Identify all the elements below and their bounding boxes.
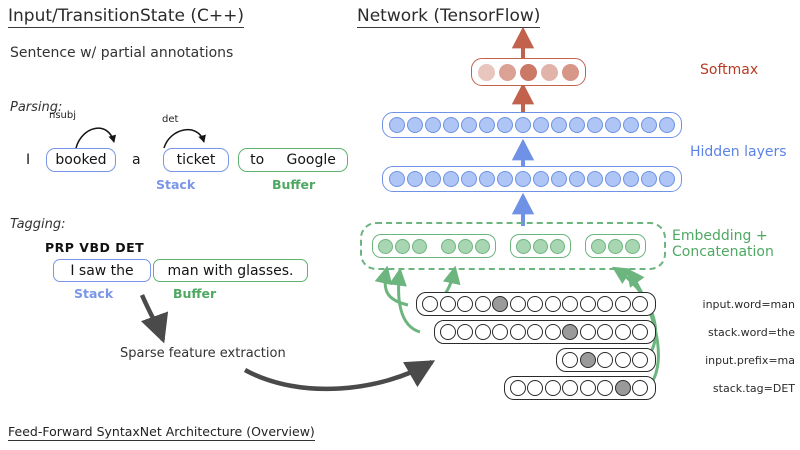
hidden-node xyxy=(515,171,531,187)
hidden-node xyxy=(605,117,621,133)
hidden-node xyxy=(443,117,459,133)
sparse-node xyxy=(562,352,578,368)
sparse-feature-row[interactable] xyxy=(504,376,657,400)
sparse-node xyxy=(510,380,526,396)
chip-buffer-to-google[interactable]: to Google xyxy=(238,148,348,172)
hidden-node xyxy=(659,171,675,187)
embedding-node xyxy=(458,239,473,254)
sparse-node xyxy=(475,324,491,340)
arrow-to-feature-vectors xyxy=(245,362,432,389)
sparse-feature-labels: input.word=manstack.word=theinput.prefix… xyxy=(655,292,795,404)
chip-tagging-buffer-label: man with glasses. xyxy=(163,263,299,279)
sparse-node xyxy=(527,380,543,396)
sparse-node xyxy=(597,380,613,396)
sparse-node xyxy=(580,296,596,312)
hidden-node xyxy=(623,171,639,187)
hidden-node xyxy=(515,117,531,133)
sparse-node xyxy=(422,296,438,312)
hidden-node xyxy=(479,171,495,187)
embedding-segment xyxy=(516,239,565,254)
embedding-group[interactable] xyxy=(510,234,571,258)
sparse-node xyxy=(615,352,631,368)
sparse-node xyxy=(492,324,508,340)
sparse-node xyxy=(510,296,526,312)
hidden-node xyxy=(533,171,549,187)
embedding-node xyxy=(625,239,640,254)
sparse-node-active xyxy=(562,324,578,340)
sparse-node xyxy=(597,324,613,340)
green-link-1 xyxy=(385,268,408,305)
arc-det xyxy=(164,130,204,148)
hidden-node xyxy=(641,117,657,133)
arc-label-nsubj: nsubj xyxy=(49,110,76,121)
softmax-node xyxy=(499,64,516,81)
right-panel-heading: Network (TensorFlow) xyxy=(357,6,540,28)
embedding-groups-row xyxy=(372,232,656,260)
hidden-node xyxy=(407,171,423,187)
hidden-node xyxy=(425,117,441,133)
sparse-node xyxy=(632,380,648,396)
sparse-node xyxy=(527,324,543,340)
hidden-node xyxy=(443,171,459,187)
chip-token-to: to xyxy=(245,152,269,168)
softmax-layer[interactable] xyxy=(471,58,586,86)
embedding-node xyxy=(412,239,427,254)
tagging-tags: PRP VBD DET xyxy=(45,240,144,255)
sparse-node-active xyxy=(492,296,508,312)
hidden-node xyxy=(389,117,405,133)
embedding-group[interactable] xyxy=(372,234,496,258)
sparse-node xyxy=(510,324,526,340)
embedding-segment xyxy=(441,239,490,254)
hidden-node xyxy=(533,117,549,133)
embedding-side-label-line1: Embedding + xyxy=(672,228,774,244)
softmax-node xyxy=(478,64,495,81)
parsing-stack-label: Stack xyxy=(156,177,195,192)
hidden-node xyxy=(587,171,603,187)
chip-booked-label: booked xyxy=(50,152,111,168)
sparse-feature-vectors xyxy=(406,292,656,404)
hidden-node xyxy=(569,117,585,133)
sparse-node xyxy=(527,296,543,312)
softmax-node xyxy=(541,64,558,81)
sparse-node xyxy=(615,324,631,340)
sparse-node xyxy=(545,324,561,340)
sparse-node xyxy=(597,352,613,368)
sparse-node xyxy=(632,352,648,368)
hidden-node xyxy=(551,171,567,187)
sparse-node xyxy=(615,296,631,312)
sparse-node xyxy=(632,296,648,312)
sparse-feature-extraction-label: Sparse feature extraction xyxy=(120,346,286,361)
sparse-node xyxy=(440,296,456,312)
sparse-node xyxy=(545,296,561,312)
chip-tagging-buffer[interactable]: man with glasses. xyxy=(153,259,308,282)
hidden-layers-side-label: Hidden layers xyxy=(690,144,787,160)
hidden-node xyxy=(479,117,495,133)
chip-ticket-label: ticket xyxy=(172,152,221,168)
sparse-feature-label: stack.word=the xyxy=(708,326,795,339)
parsing-buffer-label: Buffer xyxy=(272,177,315,192)
sparse-feature-row[interactable] xyxy=(434,320,657,344)
sparse-feature-label: stack.tag=DET xyxy=(713,382,795,395)
embedding-node xyxy=(441,239,456,254)
embedding-node xyxy=(516,239,531,254)
softmax-node xyxy=(562,64,579,81)
arrow-to-sparse-extraction xyxy=(142,295,163,340)
chip-tagging-stack[interactable]: I saw the xyxy=(53,259,151,282)
hidden-node xyxy=(623,117,639,133)
softmax-side-label: Softmax xyxy=(700,62,758,78)
sparse-feature-row[interactable] xyxy=(556,348,656,372)
hidden-node xyxy=(659,117,675,133)
sparse-feature-label: input.word=man xyxy=(703,298,795,311)
hidden-node xyxy=(425,171,441,187)
chip-ticket[interactable]: ticket xyxy=(163,148,229,172)
hidden-node xyxy=(551,117,567,133)
sparse-node xyxy=(440,324,456,340)
embedding-node xyxy=(378,239,393,254)
sparse-node xyxy=(562,296,578,312)
sparse-feature-row[interactable] xyxy=(416,292,656,316)
embedding-node xyxy=(475,239,490,254)
embedding-node xyxy=(533,239,548,254)
hidden-node xyxy=(497,171,513,187)
hidden-node xyxy=(569,171,585,187)
sparse-node xyxy=(597,296,613,312)
chip-token-google: Google xyxy=(281,152,340,168)
sparse-node xyxy=(475,296,491,312)
figure-caption: Feed-Forward SyntaxNet Architecture (Ove… xyxy=(8,424,315,441)
sparse-node xyxy=(457,324,473,340)
embedding-side-label: Embedding + Concatenation xyxy=(672,228,774,260)
chip-tagging-stack-label: I saw the xyxy=(65,263,138,279)
sparse-node xyxy=(545,380,561,396)
sparse-node xyxy=(632,324,648,340)
hidden-node xyxy=(461,117,477,133)
embedding-node xyxy=(591,239,606,254)
sparse-feature-label: input.prefix=ma xyxy=(705,354,795,367)
tagging-buffer-label: Buffer xyxy=(173,286,216,301)
embedding-node xyxy=(395,239,410,254)
left-panel-heading: Input/TransitionState (C++) xyxy=(8,6,244,28)
softmax-node xyxy=(520,64,537,81)
sparse-node xyxy=(457,296,473,312)
chip-booked[interactable]: booked xyxy=(46,148,116,172)
hidden-node xyxy=(497,117,513,133)
arc-label-det: det xyxy=(162,114,178,125)
hidden-node xyxy=(389,171,405,187)
hidden-node xyxy=(461,171,477,187)
hidden-layer-2[interactable] xyxy=(382,112,682,138)
sparse-node xyxy=(562,380,578,396)
embedding-group[interactable] xyxy=(585,234,646,258)
embedding-side-label-line2: Concatenation xyxy=(672,244,774,260)
embedding-node xyxy=(550,239,565,254)
sparse-node xyxy=(580,380,596,396)
embedding-segment xyxy=(378,239,427,254)
embedding-segment xyxy=(591,239,640,254)
left-panel-subtitle: Sentence w/ partial annotations xyxy=(10,45,233,61)
embedding-node xyxy=(608,239,623,254)
tagging-stack-label: Stack xyxy=(74,286,113,301)
hidden-node xyxy=(641,171,657,187)
arc-nsubj xyxy=(76,128,114,148)
sparse-node-active xyxy=(615,380,631,396)
hidden-node xyxy=(407,117,423,133)
token-I: I xyxy=(26,152,30,168)
token-a: a xyxy=(132,152,141,168)
hidden-node xyxy=(587,117,603,133)
sparse-node xyxy=(580,324,596,340)
sparse-node-active xyxy=(580,352,596,368)
hidden-node xyxy=(605,171,621,187)
hidden-layer-1[interactable] xyxy=(382,166,682,192)
tagging-section-title: Tagging: xyxy=(10,217,66,232)
diagram-canvas: Input/TransitionState (C++) Sentence w/ … xyxy=(0,0,800,450)
